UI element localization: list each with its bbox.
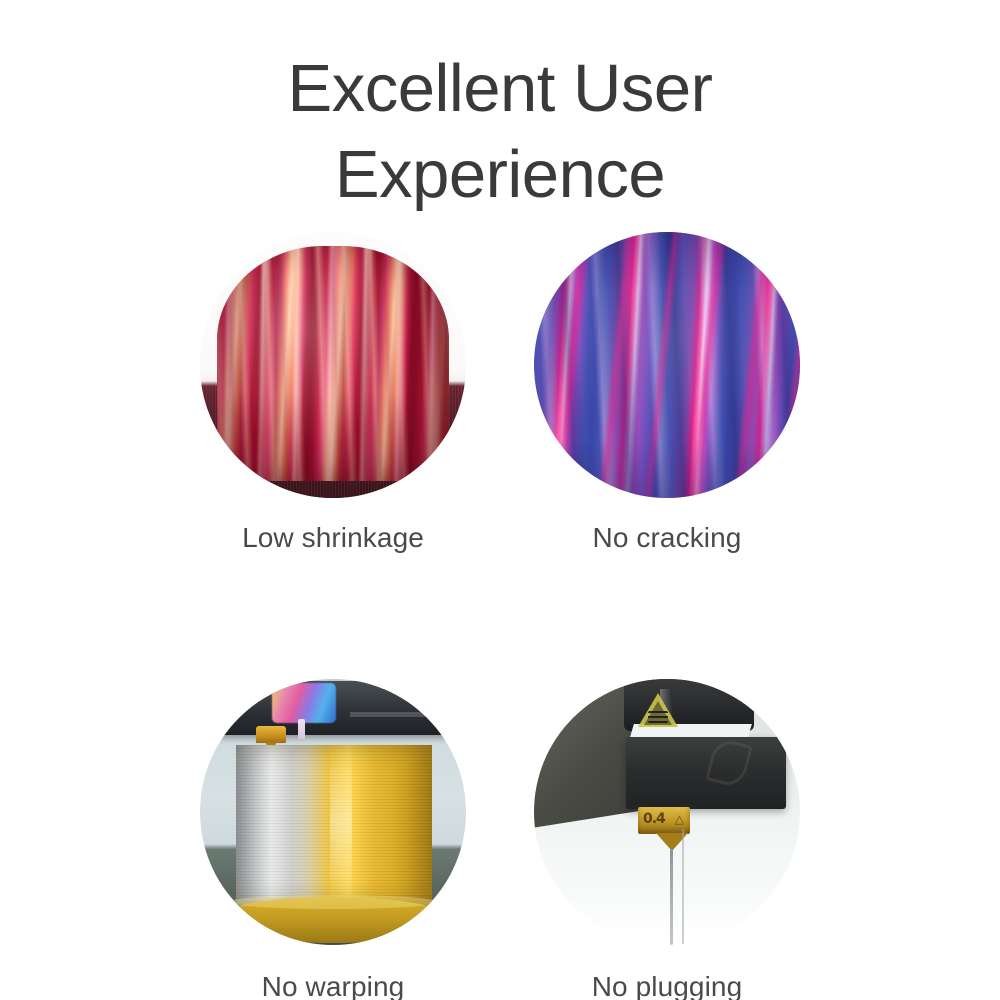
blue-purple-wavy-print-closeup-photo: [534, 232, 800, 498]
feature-caption-no-warping: No warping: [262, 971, 405, 1000]
extruded-filament-strand: [670, 849, 673, 945]
feature-grid: Low shrinkage No cracking: [0, 232, 1000, 1000]
printed-vase-object: [217, 246, 449, 481]
feature-showcase-page: Excellent User Experience Low shrinkag: [0, 0, 1000, 1000]
page-title: Excellent User Experience: [0, 46, 1000, 218]
feature-item-no-warping: No warping: [200, 679, 466, 1000]
feature-image-no-cracking: [534, 232, 800, 498]
wave-shading-overlay: [534, 232, 800, 498]
nozzle-stamp-icon: △: [675, 812, 684, 826]
feature-item-no-plugging: 0.4 △ No plugging: [534, 679, 800, 1000]
feature-item-no-cracking: No cracking: [534, 232, 800, 554]
feature-item-low-shrinkage: Low shrinkage: [200, 232, 466, 554]
background-panel-seam: [682, 829, 684, 945]
print-head-reflection: [272, 683, 336, 723]
vase-shading-overlay: [217, 246, 449, 481]
printer-cylinder-silver-gold-photo: [200, 679, 466, 945]
feature-row-top: Low shrinkage No cracking: [0, 232, 1000, 554]
brass-nozzle-icon: [256, 726, 286, 743]
printed-cylinder-object: [236, 745, 432, 905]
heat-wave-lines-icon: [648, 711, 668, 723]
feature-image-no-plugging: 0.4 △: [534, 679, 800, 945]
feature-caption-no-cracking: No cracking: [593, 522, 742, 554]
filament-feed: [298, 719, 305, 739]
feature-image-no-warping: [200, 679, 466, 945]
nozzle-size-label: 0.4: [643, 811, 665, 827]
build-plate-rim: [228, 895, 438, 909]
feature-row-bottom: No warping 0.4: [0, 679, 1000, 1000]
hotend-nozzle-extruding-photo: 0.4 △: [534, 679, 800, 945]
pink-ribbed-vase-photo: [200, 232, 466, 498]
cylinder-gloss-highlight: [330, 745, 352, 905]
feature-caption-low-shrinkage: Low shrinkage: [242, 522, 424, 554]
feature-image-low-shrinkage: [200, 232, 466, 498]
feature-caption-no-plugging: No plugging: [592, 971, 743, 1000]
